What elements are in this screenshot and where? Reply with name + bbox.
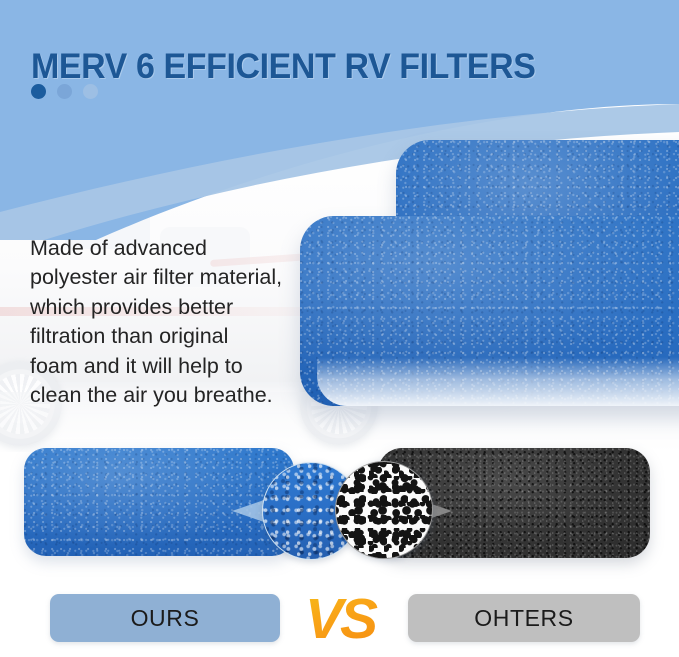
magnifier-pointer-ours [232, 500, 264, 522]
ours-label-pill[interactable]: OURS [50, 594, 280, 642]
comparison-labels: OURS VS OHTERS [0, 588, 679, 650]
others-label-pill[interactable]: OHTERS [408, 594, 640, 642]
infographic-page: MERV 6 EFFICIENT RV FILTERS Made of adva… [0, 0, 679, 657]
carousel-dot-2[interactable] [57, 84, 72, 99]
carousel-dot-3[interactable] [83, 84, 98, 99]
carousel-dot-1[interactable] [31, 84, 46, 99]
foam-pad-stack-photo [300, 128, 679, 403]
blue-foam-pad-bottom [300, 216, 679, 406]
page-title: MERV 6 EFFICIENT RV FILTERS [31, 47, 536, 87]
carousel-dots[interactable] [31, 84, 98, 99]
others-label-text: OHTERS [474, 605, 573, 632]
versus-badge: VS [292, 588, 388, 650]
magnifier-others [335, 461, 433, 559]
ours-label-text: OURS [131, 605, 200, 632]
magnified-foam-bubbles [335, 461, 433, 559]
description-text: Made of advanced polyester air filter ma… [30, 234, 320, 411]
foam-cut-edge [317, 357, 679, 406]
